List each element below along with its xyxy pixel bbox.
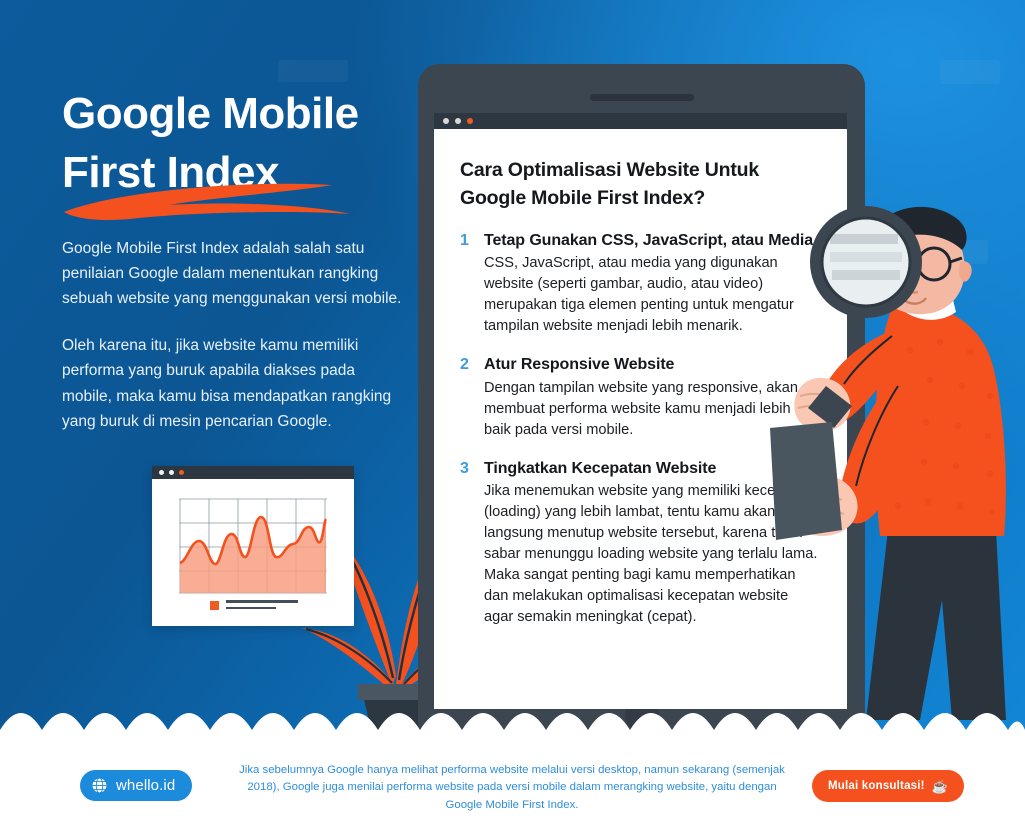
window-dot-1-icon [159, 470, 164, 475]
browser-titlebar [434, 113, 847, 129]
hero-lead: Google Mobile First Index adalah salah s… [62, 236, 402, 434]
analytics-chart-window [152, 466, 354, 626]
card-title: Cara Optimalisasi Website Untuk Google M… [460, 157, 821, 212]
coffee-cup-icon: ☕ [932, 780, 948, 793]
infographic-page: Google Mobile First Index Google Mobile … [0, 0, 1025, 818]
browser-dot-3-icon [467, 118, 473, 124]
background-rect-2 [940, 60, 1000, 84]
globe-www-icon [91, 777, 108, 794]
lead-paragraph-2: Oleh karena itu, jika website kamu memil… [62, 333, 402, 433]
browser-dot-2-icon [455, 118, 461, 124]
step-item: 1 Tetap Gunakan CSS, JavaScript, atau Me… [460, 230, 821, 337]
steps-list: 1 Tetap Gunakan CSS, JavaScript, atau Me… [460, 230, 821, 627]
step-number: 1 [460, 230, 473, 337]
step-number: 3 [460, 458, 473, 628]
whello-logo-button[interactable]: whello.id [80, 770, 192, 801]
area-chart [179, 497, 327, 595]
tablet-speaker [590, 94, 694, 101]
step-number: 2 [460, 354, 473, 440]
chart-window-body [152, 479, 354, 626]
legend-swatch-icon [210, 601, 219, 610]
window-dot-2-icon [169, 470, 174, 475]
headline-underline-swoosh [60, 172, 360, 228]
window-dot-3-icon [179, 470, 184, 475]
headline-line-1: Google Mobile [62, 84, 412, 143]
background-rect-1 [278, 60, 348, 82]
footer-note: Jika sebelumnya Google hanya melihat per… [232, 762, 792, 814]
chart-legend [210, 600, 298, 613]
whello-logo-label: whello.id [116, 777, 175, 794]
legend-label-lines [226, 600, 298, 613]
start-consultation-button[interactable]: Mulai konsultasi! ☕ [812, 770, 964, 802]
man-with-magnifying-glass [770, 200, 1025, 746]
browser-dot-1-icon [443, 118, 449, 124]
chart-window-titlebar [152, 466, 354, 479]
step-item: 3 Tingkatkan Kecepatan Website Jika mene… [460, 458, 821, 628]
step-item: 2 Atur Responsive Website Dengan tampila… [460, 354, 821, 440]
lead-paragraph-1: Google Mobile First Index adalah salah s… [62, 236, 402, 311]
cta-label: Mulai konsultasi! [828, 780, 925, 792]
